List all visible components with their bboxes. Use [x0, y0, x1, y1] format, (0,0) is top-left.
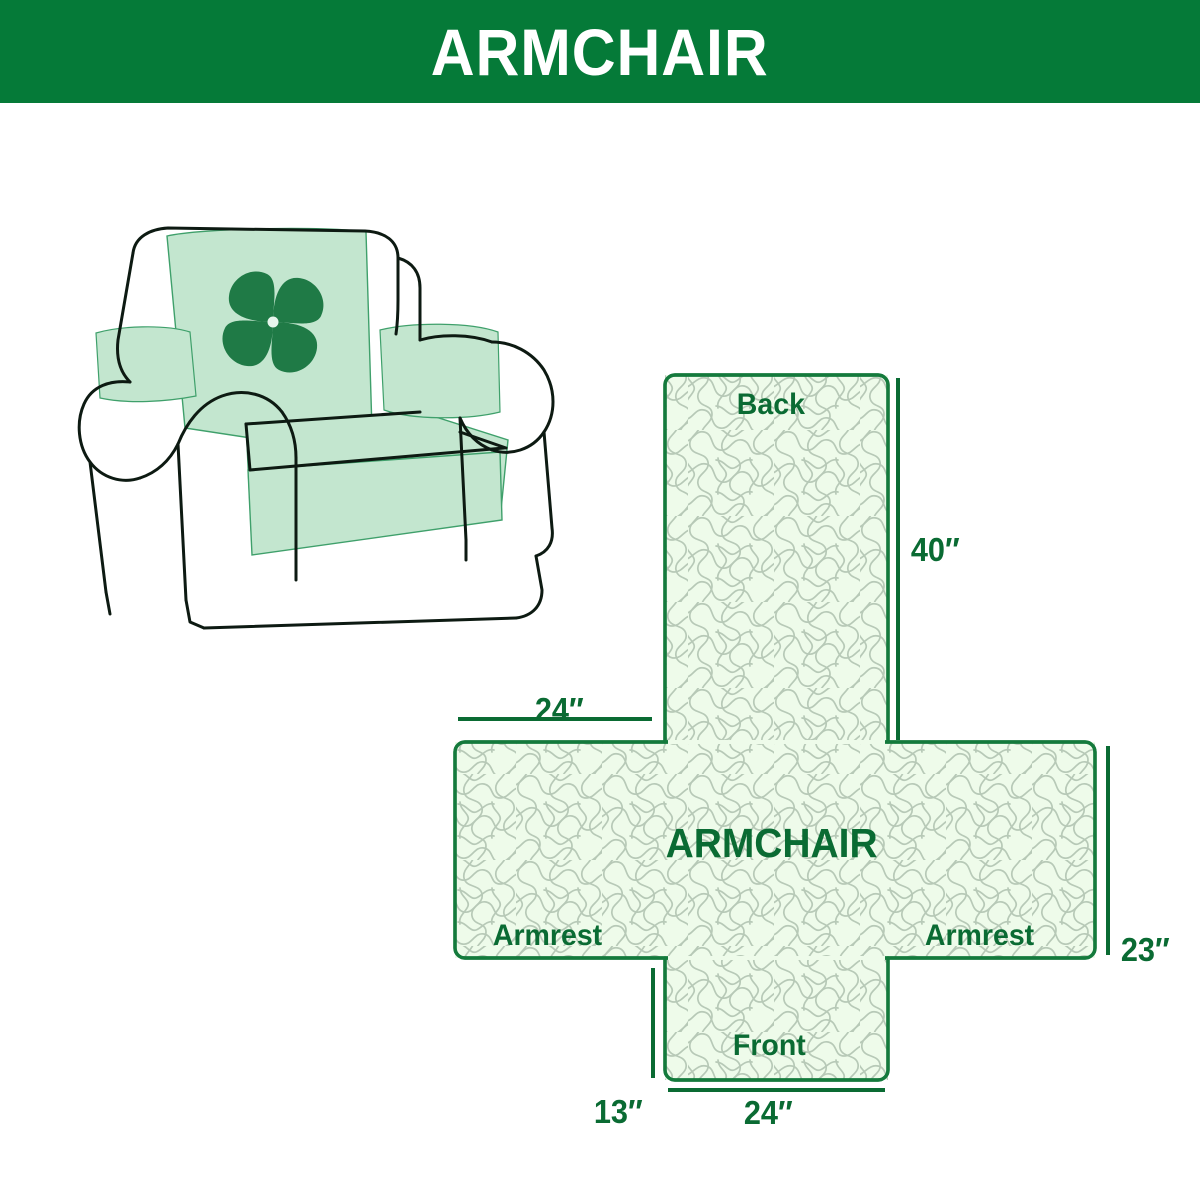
dimension-label-armrest-width: 24″ — [535, 693, 584, 726]
panel-label-back: Back — [737, 390, 805, 420]
quilt-texture — [440, 360, 1120, 1100]
slipcover-pattern-shape — [440, 360, 1120, 1100]
panel-label-armrest-left: Armrest — [493, 921, 602, 951]
diagram-graphics — [0, 0, 1200, 1200]
panel-label-front: Front — [733, 1031, 806, 1061]
dimension-label-back-height: 40″ — [911, 533, 960, 566]
diagram-canvas: Back Armrest Armrest Front ARMCHAIR 40″ … — [0, 103, 1200, 1200]
dimension-label-front-width: 24″ — [744, 1096, 793, 1129]
slipcover-left-arm — [96, 327, 196, 402]
armchair-illustration-group — [79, 228, 553, 628]
dimension-label-front-height: 13″ — [594, 1095, 643, 1128]
panel-label-armrest-right: Armrest — [925, 921, 1034, 951]
dimension-label-body-height: 23″ — [1121, 933, 1170, 966]
pattern-center-label: ARMCHAIR — [666, 823, 878, 864]
fan-pinwheel-icon — [222, 271, 323, 372]
